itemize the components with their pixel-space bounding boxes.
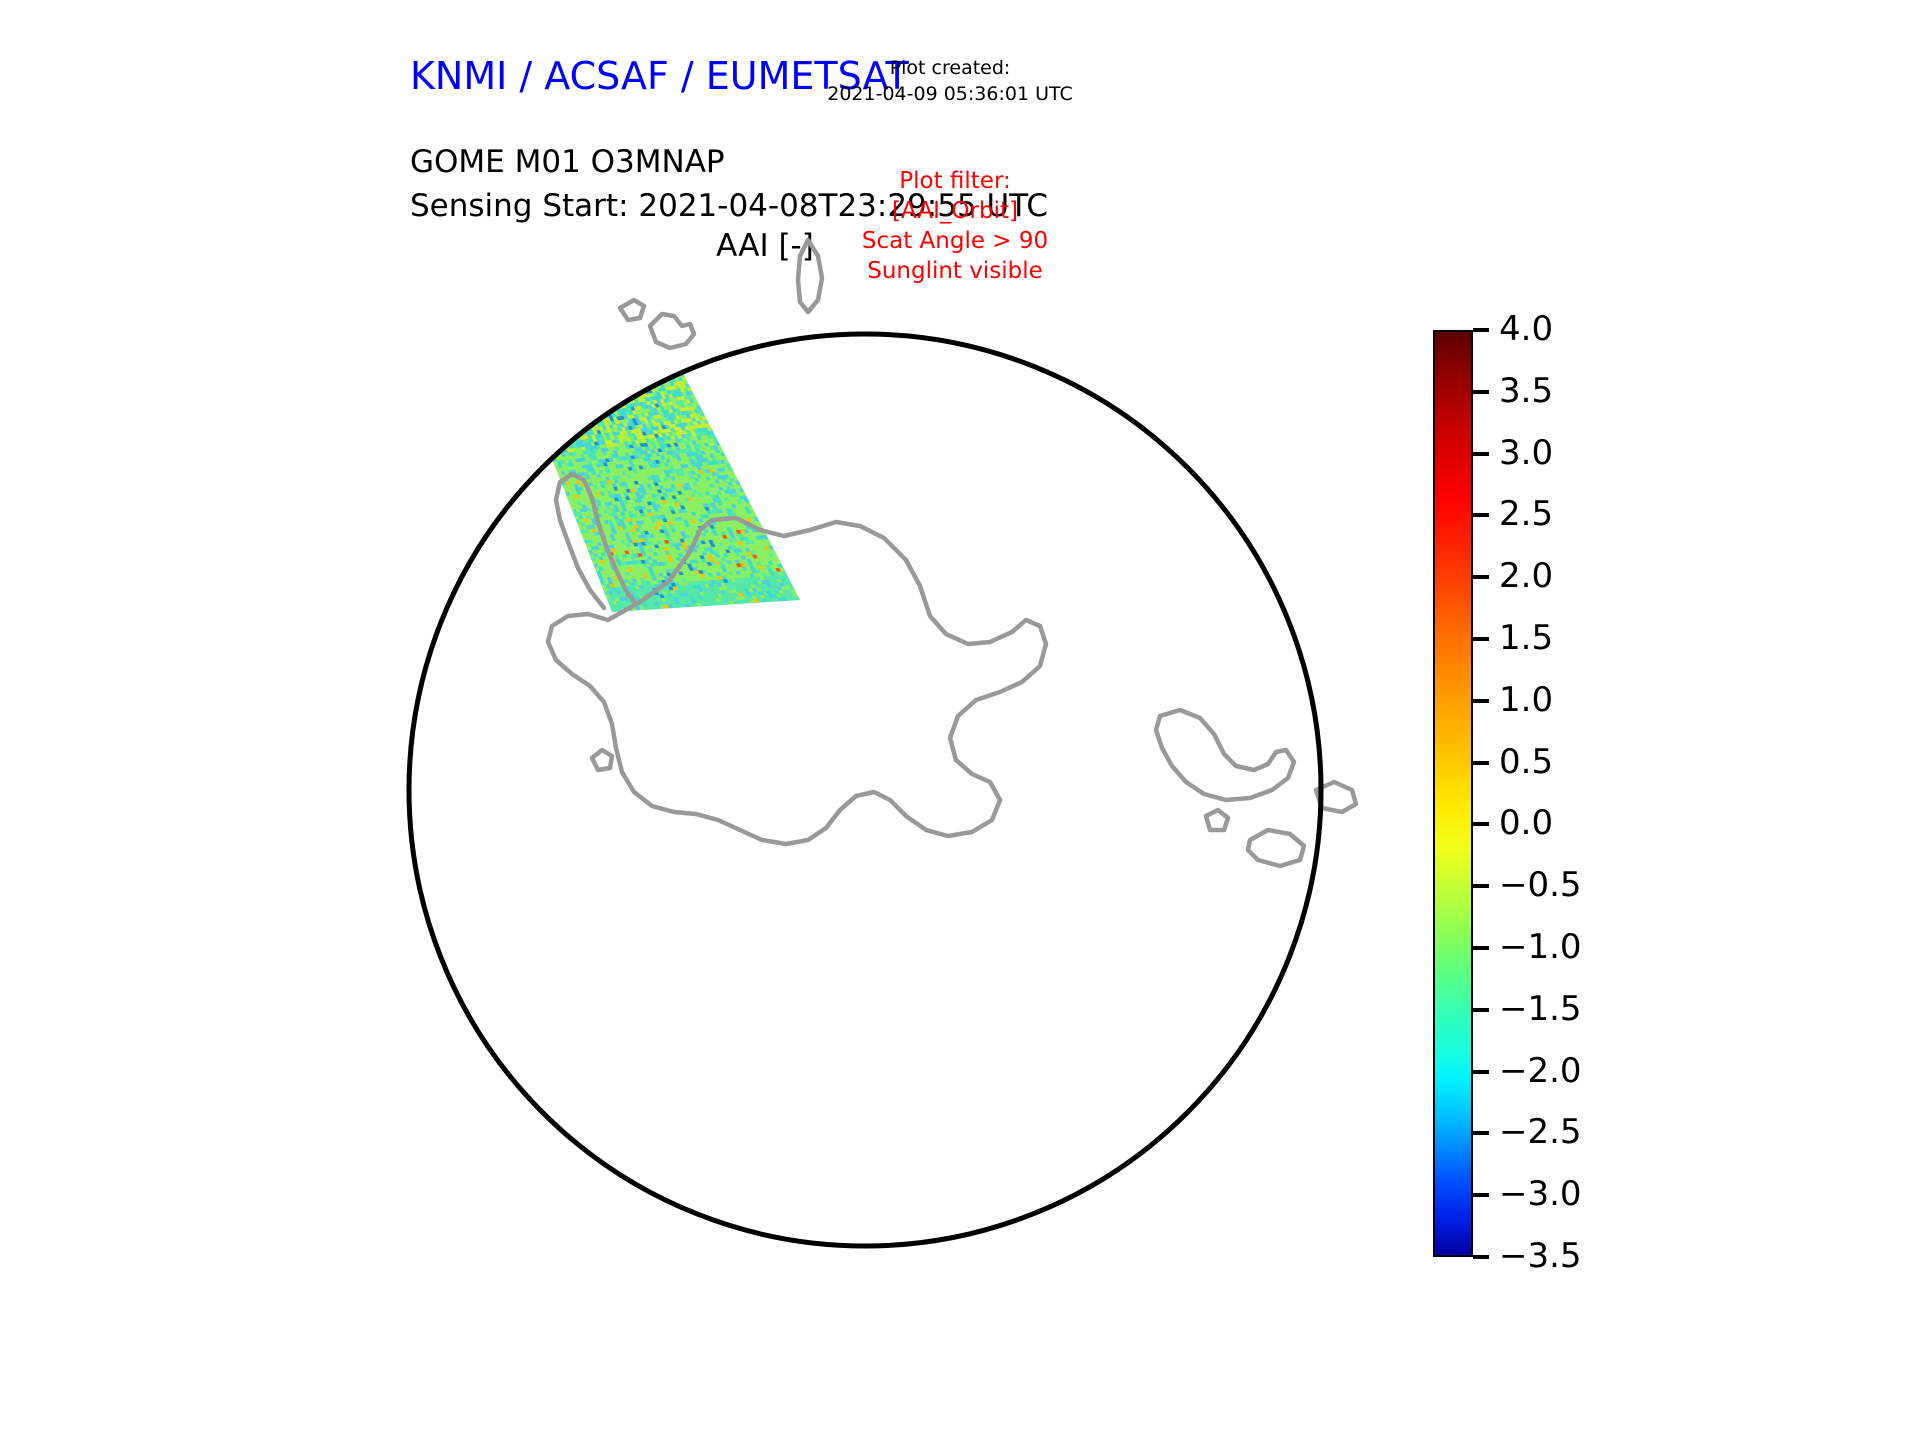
swath-pixel [555, 392, 560, 396]
swath-pixel [569, 368, 574, 372]
swath-pixel [599, 385, 604, 389]
swath-pixel [572, 310, 577, 314]
swath-pixel [589, 342, 594, 346]
swath-pixel [545, 360, 550, 364]
swath-pixel [554, 348, 559, 352]
swath-pixel [570, 393, 575, 397]
swath-pixel [532, 329, 537, 333]
swath-pixel [550, 356, 555, 360]
swath-pixel [578, 317, 583, 321]
swath-pixel [586, 327, 591, 331]
swath-pixel [560, 354, 565, 358]
colorbar-tick-label: 3.0 [1499, 433, 1553, 473]
swath-pixel [509, 322, 513, 326]
swath-pixel [550, 307, 555, 311]
swath-pixel [531, 359, 536, 363]
swath-pixel [599, 347, 604, 351]
swath-pixel [583, 350, 588, 354]
swath-pixel [547, 382, 552, 386]
swath-pixel [592, 386, 597, 390]
swath-pixel [554, 355, 559, 359]
swath-pixel [625, 343, 630, 347]
swath-pixel [594, 345, 599, 349]
colorbar-tick-mark [1473, 699, 1489, 703]
swath-pixel [547, 364, 552, 368]
swath-pixel [564, 372, 569, 376]
swath-pixel [562, 335, 567, 339]
swath-pixel [548, 319, 553, 323]
swath-pixel [559, 313, 564, 317]
swath-pixel [525, 353, 530, 357]
swath-pixel [601, 359, 606, 363]
swath-pixel [654, 365, 659, 369]
swath-pixel [609, 384, 614, 388]
swath-pixel [583, 305, 588, 309]
swath-pixel [535, 369, 540, 373]
swath-pixel [589, 364, 594, 368]
swath-pixel [570, 307, 575, 311]
swath-pixel [606, 339, 611, 343]
swath-pixel [604, 366, 609, 370]
swath-pixel [537, 365, 542, 369]
swath-pixel [587, 307, 592, 311]
swath-pixel [596, 340, 601, 344]
swath-pixel [651, 366, 656, 370]
swath-pixel [565, 350, 570, 354]
swath-pixel [644, 332, 649, 336]
swath-pixel [552, 411, 557, 415]
swath-pixel [580, 328, 585, 332]
swath-pixel [563, 387, 568, 391]
swath-pixel [575, 396, 580, 400]
swath-pixel [537, 420, 542, 424]
swath-pixel [519, 347, 524, 351]
swath-pixel [575, 340, 580, 344]
swath-pixel [573, 367, 578, 371]
swath-pixel [654, 358, 659, 362]
swath-pixel [650, 343, 655, 347]
swath-pixel [564, 398, 569, 402]
swath-pixel [536, 314, 541, 318]
swath-pixel [578, 396, 583, 400]
globe-disc [409, 334, 1321, 1246]
swath-pixel [589, 311, 594, 315]
swath-pixel [578, 309, 583, 313]
swath-pixel [640, 352, 645, 356]
swath-pixel [612, 295, 617, 299]
swath-pixel [573, 322, 578, 326]
swath-pixel [542, 361, 547, 365]
swath-pixel [598, 408, 603, 412]
swath-pixel [606, 403, 611, 407]
swath-pixel [635, 341, 640, 345]
swath-pixel [552, 385, 557, 389]
swath-pixel [601, 407, 606, 411]
swath-pixel [556, 344, 561, 348]
swath-pixel [586, 357, 591, 361]
swath-pixel [635, 349, 640, 353]
swath-pixel [576, 306, 581, 310]
swath-pixel [581, 339, 586, 343]
swath-pixel [553, 370, 558, 374]
swath-pixel [569, 427, 574, 431]
swath-pixel [532, 388, 537, 392]
swath-pixel [637, 383, 642, 387]
swath-pixel [567, 412, 572, 416]
swath-pixel [659, 361, 664, 365]
swath-pixel [532, 381, 537, 385]
plot-created-timestamp: 2021-04-09 05:36:01 UTC [740, 81, 1160, 107]
swath-pixel [645, 312, 650, 316]
colorbar-gradient [1433, 330, 1473, 1257]
swath-pixel [575, 348, 580, 352]
swath-pixel [513, 359, 518, 363]
swath-pixel [597, 321, 602, 325]
swath-pixel [543, 331, 548, 335]
swath-pixel [612, 322, 617, 326]
swath-pixel [553, 414, 558, 418]
swath-pixel [560, 395, 565, 399]
swath-pixel [544, 308, 549, 312]
swath-pixel [617, 379, 622, 383]
swath-pixel [565, 342, 570, 346]
swath-pixel [547, 408, 552, 412]
swath-pixel [547, 400, 552, 404]
swath-pixel [562, 312, 567, 316]
swath-pixel [550, 407, 555, 411]
swath-pixel [584, 316, 589, 320]
swath-pixel [537, 409, 542, 413]
swath-pixel [577, 418, 582, 422]
swath-pixel [641, 325, 646, 329]
swath-pixel [522, 338, 527, 342]
swath-pixel [631, 377, 636, 381]
swath-pixel [616, 375, 621, 379]
swath-pixel [563, 420, 568, 424]
swath-pixel [635, 306, 640, 310]
swath-pixel [630, 361, 635, 365]
swath-pixel [583, 312, 588, 316]
swath-pixel [571, 379, 576, 383]
swath-pixel [589, 357, 594, 361]
swath-pixel [657, 349, 662, 353]
swath-pixel [602, 309, 607, 313]
swath-pixel [549, 386, 554, 390]
swath-pixel [567, 338, 572, 342]
swath-pixel [641, 367, 646, 371]
swath-pixel [554, 443, 559, 447]
swath-pixel [632, 357, 637, 361]
swath-pixel [615, 294, 620, 298]
plot-page: KNMI / ACSAF / EUMETSAT Plot created: 20… [0, 0, 1920, 1440]
swath-pixel [620, 386, 625, 390]
colorbar-tick-label: −3.5 [1499, 1236, 1582, 1276]
swath-pixel [564, 316, 569, 320]
swath-pixel [584, 346, 589, 350]
swath-pixel [594, 352, 599, 356]
swath-pixel [529, 330, 534, 334]
swath-pixel [556, 329, 561, 333]
swath-pixel [650, 358, 655, 362]
swath-pixel [528, 352, 533, 356]
swath-pixel [591, 337, 596, 341]
swath-pixel [602, 324, 607, 328]
swath-pixel [557, 388, 562, 392]
swath-pixel [593, 341, 598, 345]
swath-pixel [539, 398, 544, 402]
swath-pixel [631, 369, 636, 373]
swath-pixel [629, 373, 634, 377]
swath-pixel [572, 415, 577, 419]
swath-pixel [540, 357, 545, 361]
swath-pixel [536, 355, 541, 359]
swath-pixel [591, 401, 596, 405]
swath-pixel [610, 342, 615, 346]
swath-pixel [552, 344, 557, 348]
swath-pixel [636, 337, 641, 341]
swath-pixel [559, 369, 564, 373]
swath-pixel [615, 352, 620, 356]
swath-pixel [614, 333, 619, 337]
swath-pixel [557, 332, 562, 336]
swath-pixel [565, 357, 570, 361]
swath-pixel [588, 330, 593, 334]
swath-pixel [555, 385, 560, 389]
swath-pixel [602, 370, 607, 374]
swath-pixel [620, 332, 625, 336]
swath-pixel [576, 392, 581, 396]
swath-pixel [612, 361, 617, 365]
swath-pixel [558, 366, 563, 370]
swath-pixel [553, 314, 558, 318]
swath-pixel [593, 390, 598, 394]
swath-pixel [607, 380, 612, 384]
swath-pixel [601, 351, 606, 355]
swath-pixel [551, 393, 556, 397]
swath-pixel [651, 374, 656, 378]
swath-pixel [600, 396, 605, 400]
swath-pixel [605, 399, 610, 403]
plot-filter-line-1: [AAI_Orbit] [745, 196, 1165, 226]
swath-pixel [569, 311, 574, 315]
swath-pixel [577, 336, 582, 340]
swath-pixel [583, 365, 588, 369]
swath-pixel [557, 406, 562, 410]
swath-pixel [504, 327, 509, 331]
swath-pixel [585, 331, 590, 335]
swath-pixel [513, 314, 518, 318]
swath-pixel [614, 341, 619, 345]
swath-pixel [588, 402, 593, 406]
swath-pixel [575, 325, 580, 329]
swath-pixel [564, 323, 569, 327]
swath-pixel [554, 436, 559, 440]
swath-pixel [626, 331, 631, 335]
swath-pixel [578, 422, 583, 426]
swath-pixel [565, 383, 570, 387]
swath-pixel [579, 414, 584, 418]
swath-pixel [604, 335, 609, 339]
swath-pixel [643, 352, 648, 356]
swath-pixel [529, 363, 534, 367]
swath-pixel [506, 323, 511, 327]
swath-pixel [630, 331, 635, 335]
swath-pixel [662, 352, 667, 356]
swath-pixel [629, 350, 634, 354]
swath-pixel [511, 318, 516, 322]
swath-pixel [603, 396, 608, 400]
swath-pixel [565, 409, 570, 413]
swath-pixel [532, 370, 537, 374]
swath-pixel [537, 402, 542, 406]
swath-pixel [643, 328, 648, 332]
swath-pixel [562, 409, 567, 413]
swath-pixel [578, 340, 583, 344]
swath-pixel [548, 448, 553, 452]
swath-pixel [537, 391, 542, 395]
swath-pixel [605, 316, 610, 320]
swath-pixel [533, 340, 538, 344]
swath-pixel [558, 417, 563, 421]
swath-pixel [636, 372, 641, 376]
swath-pixel [529, 381, 534, 385]
plot-filter-label: Plot filter: [745, 166, 1165, 196]
swath-pixel [551, 341, 556, 345]
swath-pixel [520, 350, 525, 354]
swath-pixel [565, 416, 570, 420]
swath-pixel [524, 368, 529, 372]
swath-pixel [573, 329, 578, 333]
swath-pixel [632, 342, 637, 346]
swath-pixel [590, 383, 595, 387]
swath-pixel [582, 421, 587, 425]
swath-pixel [575, 422, 580, 426]
swath-pixel [567, 323, 572, 327]
swath-pixel [555, 359, 560, 363]
swath-pixel [593, 299, 598, 303]
swath-pixel [611, 299, 616, 303]
swath-pixel [572, 348, 577, 352]
swath-pixel [611, 307, 616, 311]
swath-pixel [573, 400, 578, 404]
swath-pixel [614, 356, 619, 360]
plot-created-label: Plot created: [740, 55, 1160, 81]
swath-pixel [602, 362, 607, 366]
swath-pixel [542, 312, 547, 316]
swath-pixel [632, 373, 637, 377]
swath-pixel [601, 366, 606, 370]
swath-pixel [664, 356, 669, 360]
swath-pixel [594, 375, 599, 379]
swath-pixel [556, 414, 561, 418]
swath-pixel [627, 339, 632, 343]
swath-pixel [537, 317, 542, 321]
map-plot-area [0, 230, 1430, 1410]
colorbar[interactable]: 4.03.53.02.52.01.51.00.50.0−0.5−1.0−1.5−… [1433, 330, 1473, 1257]
swath-pixel [510, 352, 515, 356]
swath-pixel [608, 300, 613, 304]
swath-pixel [524, 379, 529, 383]
swath-pixel [545, 319, 550, 323]
swath-pixel [558, 410, 563, 414]
swath-pixel [573, 306, 578, 310]
swath-pixel [533, 314, 538, 318]
swath-pixel [536, 380, 541, 384]
swath-pixel [595, 386, 600, 390]
swath-pixel [559, 384, 564, 388]
swath-pixel [534, 318, 539, 322]
swath-pixel [597, 336, 602, 340]
swath-pixel [551, 436, 556, 440]
swath-pixel [507, 327, 512, 331]
swath-pixel [510, 333, 515, 337]
swath-pixel [589, 405, 594, 409]
swath-pixel [509, 348, 514, 352]
swath-pixel [601, 301, 606, 305]
swath-pixel [515, 321, 520, 325]
swath-pixel [508, 337, 513, 341]
colorbar-tick-label: 2.5 [1499, 494, 1553, 534]
swath-pixel [527, 341, 532, 345]
swath-pixel [543, 390, 548, 394]
swath-pixel [593, 349, 598, 353]
swath-pixel [528, 319, 533, 323]
swath-pixel [521, 335, 526, 339]
swath-pixel [657, 330, 662, 334]
swath-pixel [567, 308, 572, 312]
swath-pixel [642, 348, 647, 352]
swath-pixel [522, 320, 527, 324]
swath-pixel [561, 417, 566, 421]
swath-pixel [546, 433, 551, 437]
swath-pixel [534, 402, 539, 406]
swath-pixel [625, 335, 630, 339]
swath-pixel [572, 333, 577, 337]
swath-pixel [515, 355, 520, 359]
colorbar-tick-label: 0.5 [1499, 742, 1553, 782]
swath-pixel [517, 325, 522, 329]
swath-pixel [609, 338, 614, 342]
swath-pixel [597, 367, 602, 371]
swath-pixel [578, 362, 583, 366]
swath-pixel [565, 319, 570, 323]
swath-pixel [543, 372, 548, 376]
swath-pixel [628, 292, 633, 296]
swath-pixel [518, 372, 523, 376]
swath-pixel [567, 431, 572, 435]
swath-pixel [610, 402, 615, 406]
swath-pixel [580, 418, 585, 422]
swath-pixel [593, 333, 598, 337]
swath-pixel [625, 351, 630, 355]
swath-pixel [607, 365, 612, 369]
colorbar-tick-label: 4.0 [1499, 309, 1553, 349]
swath-pixel [536, 399, 541, 403]
swath-pixel [518, 328, 523, 332]
swath-pixel [559, 421, 564, 425]
swath-pixel [639, 294, 644, 298]
swath-pixel [535, 329, 540, 333]
swath-pixel [562, 402, 567, 406]
swath-pixel [610, 387, 615, 391]
swath-pixel [589, 319, 594, 323]
island-small-3 [798, 240, 822, 312]
swath-pixel [551, 374, 556, 378]
swath-pixel [541, 430, 546, 434]
swath-pixel [538, 395, 543, 399]
swath-pixel [655, 326, 660, 330]
swath-pixel [541, 376, 546, 380]
